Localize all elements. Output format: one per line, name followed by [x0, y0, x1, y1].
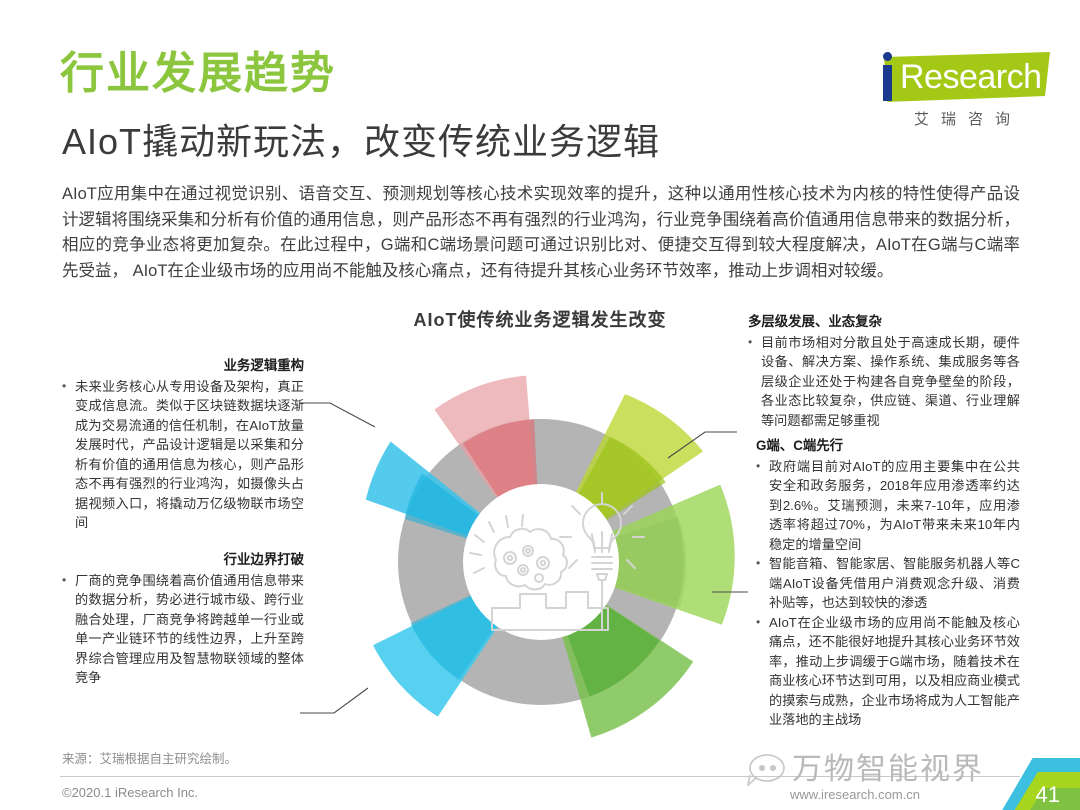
annotation-heading: 多层级发展、业态复杂 [748, 312, 1020, 332]
watermark-text: 万物智能视界 [792, 744, 984, 788]
annotation-business-logic: 业务逻辑重构 • 未来业务核心从专用设备及架构，真正变成信息流。类似于区块链数据… [62, 356, 304, 533]
iresearch-logo: Research 艾瑞咨询 [862, 50, 1052, 136]
page-number: 41 [1036, 782, 1060, 808]
annotation-body: 未来业务核心从专用设备及架构，真正变成信息流。类似于区块链数据块逐渐成为交易流通… [75, 377, 304, 533]
annotation-body: 政府端目前对AIoT的应用主要集中在公共安全和政务服务，2018年应用渗透率约达… [769, 457, 1020, 555]
logo-i-stem-icon [883, 65, 892, 101]
annotation-heading: 行业边界打破 [62, 550, 304, 570]
annotation-industry-boundary: 行业边界打破 • 厂商的竞争围绕着高价值通用信息带来的数据分析，势必进行城市级、… [62, 550, 304, 688]
annotation-heading: 业务逻辑重构 [62, 356, 304, 376]
slide-page: 行业发展趋势 AIoT撬动新玩法，改变传统业务逻辑 Research 艾瑞咨询 … [0, 0, 1080, 810]
annotation-bullet: • AIoT在企业级市场的应用尚不能触及核心痛点，还不能很好地提升其核心业务环节… [756, 613, 1020, 730]
bullet-dot-icon: • [756, 554, 769, 574]
annotation-bullet: • 目前市场相对分散且处于高速成长期，硬件设备、解决方案、操作系统、集成服务等各… [748, 333, 1020, 431]
logo-wordmark: Research [900, 56, 1042, 98]
website-url: www.iresearch.com.cn [790, 787, 920, 802]
annotation-body: 智能音箱、智能家居、智能服务机器人等C端AIoT设备凭借用户消费观念升级、消费补… [769, 554, 1020, 613]
annotation-gc-first: G端、C端先行 • 政府端目前对AIoT的应用主要集中在公共安全和政务服务，20… [756, 436, 1020, 730]
annotation-bullet: • 政府端目前对AIoT的应用主要集中在公共安全和政务服务，2018年应用渗透率… [756, 457, 1020, 555]
annotation-multilayer: 多层级发展、业态复杂 • 目前市场相对分散且处于高速成长期，硬件设备、解决方案、… [748, 312, 1020, 430]
logo-subtitle: 艾瑞咨询 [888, 108, 1048, 129]
bullet-dot-icon: • [748, 333, 761, 353]
chart-caption-text: AIoT使传统业务逻辑发生改变 [414, 306, 667, 332]
copyright-text: ©2020.1 iResearch Inc. [62, 785, 198, 800]
annotation-bullet: • 未来业务核心从专用设备及架构，真正变成信息流。类似于区块链数据块逐渐成为交易… [62, 377, 304, 533]
annotation-bullet: • 厂商的竞争围绕着高价值通用信息带来的数据分析，势必进行城市级、跨行业融合处理… [62, 571, 304, 688]
section-title: 行业发展趋势 [60, 52, 336, 96]
annotation-heading: G端、C端先行 [756, 436, 1020, 456]
slide-title: AIoT撬动新玩法，改变传统业务逻辑 [62, 120, 660, 163]
bullet-dot-icon: • [756, 457, 769, 477]
aiot-radial-diagram [296, 352, 786, 772]
annotation-bullet: • 智能音箱、智能家居、智能服务机器人等C端AIoT设备凭借用户消费观念升级、消… [756, 554, 1020, 613]
bullet-dot-icon: • [62, 377, 75, 397]
source-note: 来源：艾瑞根据自主研究绘制。 [62, 748, 237, 767]
logo-i-dot-icon [883, 52, 892, 61]
watermark-face-icon [742, 748, 794, 786]
bullet-dot-icon: • [756, 613, 769, 633]
diagram-svg [296, 352, 786, 772]
annotation-body: 目前市场相对分散且处于高速成长期，硬件设备、解决方案、操作系统、集成服务等各层级… [761, 333, 1020, 431]
annotation-body: AIoT在企业级市场的应用尚不能触及核心痛点，还不能很好地提升其核心业务环节效率… [769, 613, 1020, 730]
intro-paragraph: AIoT应用集中在通过视觉识别、语音交互、预测规划等核心技术实现效率的提升，这种… [62, 182, 1020, 284]
annotation-body: 厂商的竞争围绕着高价值通用信息带来的数据分析，势必进行城市级、跨行业融合处理，厂… [75, 571, 304, 688]
logo-mark: Research [862, 50, 1052, 104]
bullet-dot-icon: • [62, 571, 75, 591]
corner-decoration [976, 752, 1080, 810]
